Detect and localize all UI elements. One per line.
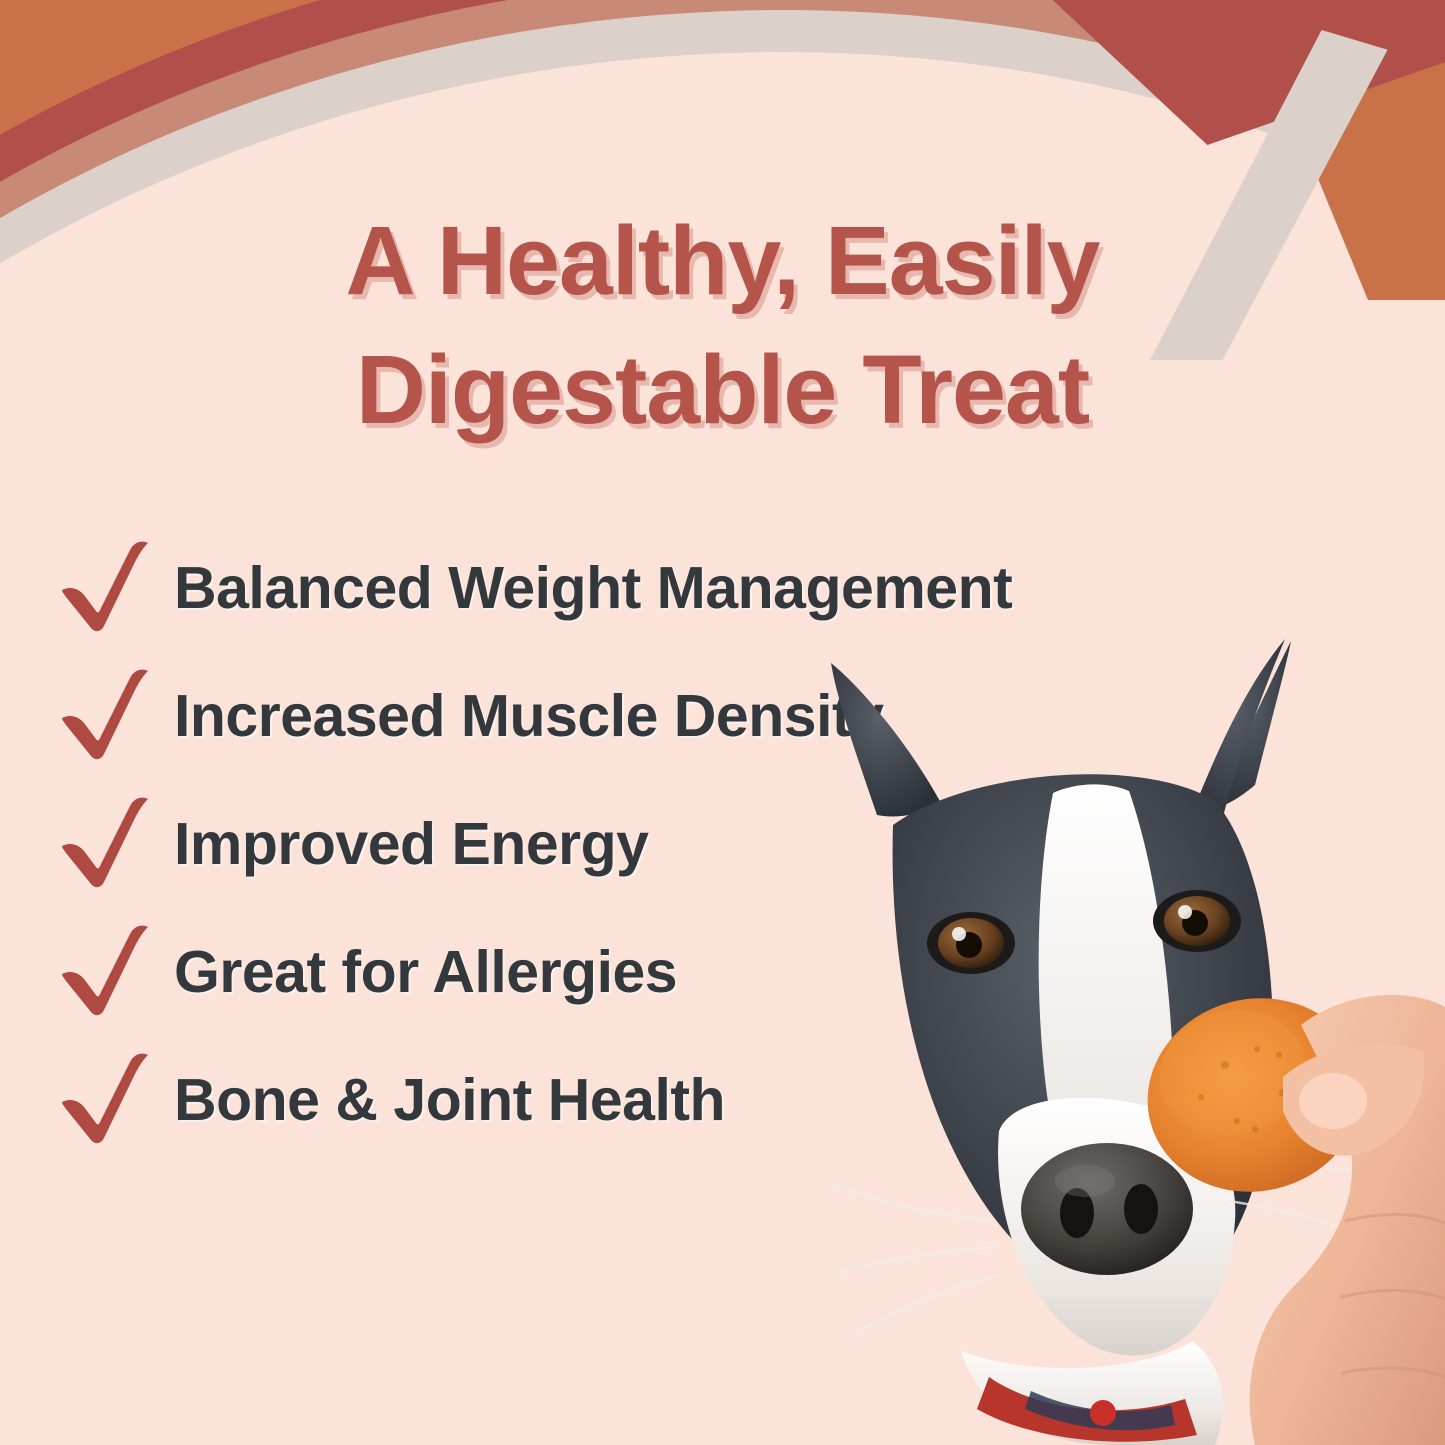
checkmark-icon xyxy=(56,924,162,1020)
benefit-label: Improved Energy xyxy=(174,810,648,878)
promo-infographic: A Healthy, Easily Digestable Treat Balan… xyxy=(0,0,1445,1445)
thumbnail xyxy=(1299,1073,1367,1129)
benefit-label: Increased Muscle Density xyxy=(174,682,883,750)
dog-eating-treat-photo xyxy=(785,625,1445,1445)
benefit-label: Great for Allergies xyxy=(174,938,677,1006)
dog-left-eye xyxy=(927,912,1015,974)
dog-nose xyxy=(1021,1143,1193,1275)
page-title: A Healthy, Easily Digestable Treat xyxy=(0,196,1445,454)
dog-right-eye xyxy=(1153,890,1241,952)
title-line-1: A Healthy, Easily xyxy=(0,196,1445,325)
benefit-label: Bone & Joint Health xyxy=(174,1066,725,1134)
benefit-label: Balanced Weight Management xyxy=(174,554,1012,622)
checkmark-icon xyxy=(56,540,162,636)
dog-left-ear xyxy=(831,663,941,817)
title-line-2: Digestable Treat xyxy=(0,325,1445,454)
checkmark-icon xyxy=(56,1052,162,1148)
checkmark-icon xyxy=(56,796,162,892)
checkmark-icon xyxy=(56,668,162,764)
